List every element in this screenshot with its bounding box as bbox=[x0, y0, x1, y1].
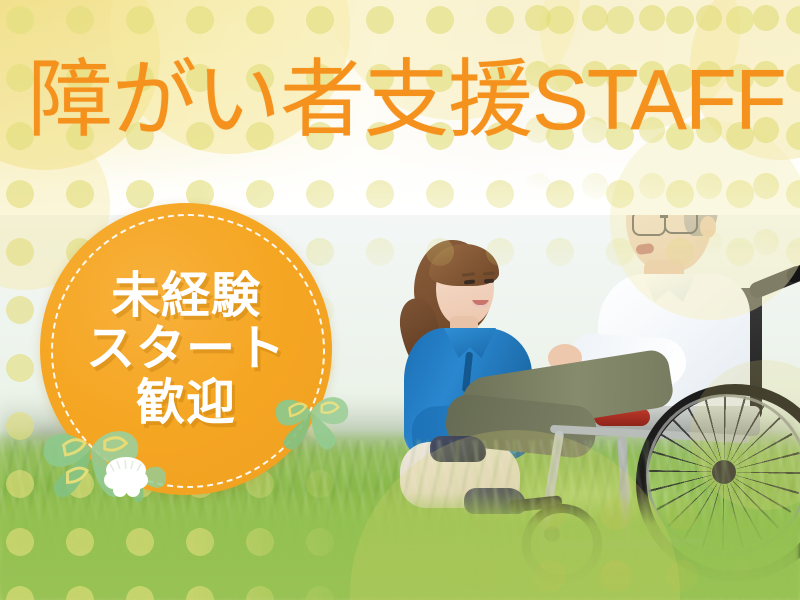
headline-latin: STAFF bbox=[532, 58, 785, 143]
polka-dot-pattern-bottom bbox=[330, 430, 800, 600]
four-leaf-clover-right bbox=[268, 372, 354, 452]
white-clover-flower bbox=[96, 450, 156, 502]
headline-japanese: 障がい者支援 bbox=[28, 58, 532, 143]
recruitment-banner: 障がい者支援STAFF 未経験 スタート 歓迎 bbox=[0, 0, 800, 600]
badge-line-2: スタート bbox=[86, 323, 286, 374]
headline: 障がい者支援STAFF bbox=[28, 46, 784, 154]
badge-line-1: 未経験 bbox=[111, 270, 261, 321]
